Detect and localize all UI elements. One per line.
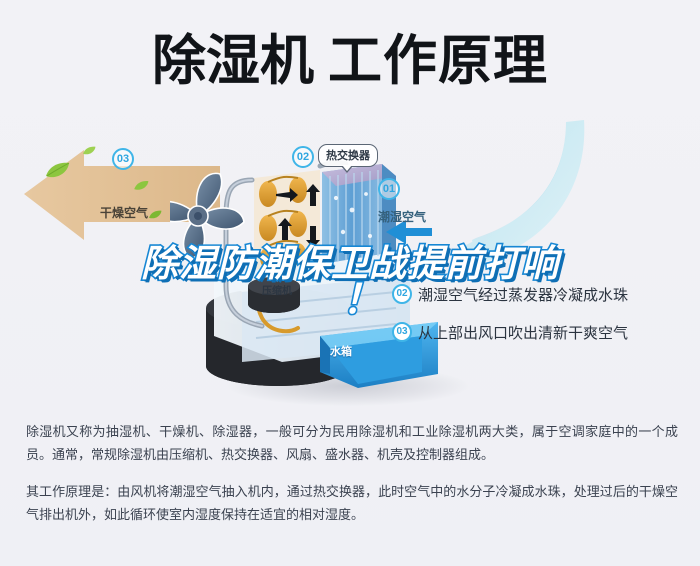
- step-text: 从上部出风口吹出清新干爽空气: [418, 322, 628, 343]
- page-title-part2: 工作原理: [328, 31, 548, 91]
- leaf-icon: [148, 210, 162, 220]
- steps-list: 01 潮湿空气由下部进风口吸入机内 02 潮湿空气经过蒸发器冷凝成水珠 03 从…: [392, 244, 692, 358]
- dry-air-label: 干燥空气: [100, 204, 148, 221]
- diagram-badge-01: 01: [378, 178, 400, 200]
- list-item: 02 潮湿空气经过蒸发器冷凝成水珠: [392, 282, 692, 306]
- page-root: 除湿机工作原理: [0, 0, 700, 566]
- diagram-badge-03: 03: [112, 148, 134, 170]
- step-badge: 03: [392, 322, 412, 342]
- list-item: 03 从上部出风口吹出清新干爽空气: [392, 320, 692, 344]
- compressor-label: 压缩机: [262, 282, 292, 297]
- page-title: 除湿机工作原理: [0, 30, 700, 92]
- leaf-icon: [133, 180, 149, 192]
- humid-air-label: 潮湿空气: [378, 208, 426, 225]
- page-title-part1: 除湿机: [152, 31, 314, 91]
- water-tank-label: 水箱: [330, 343, 352, 359]
- body-paragraph-2: 其工作原理是：由风机将潮湿空气抽入机内，通过热交换器，此时空气中的水分子冷凝成水…: [26, 480, 678, 526]
- step-text: 潮湿空气经过蒸发器冷凝成水珠: [418, 284, 628, 305]
- diagram-badge-02: 02: [292, 146, 314, 168]
- heat-exchanger-callout: 热交换器: [318, 144, 378, 167]
- leaf-icon: [82, 146, 96, 156]
- body-paragraph-1: 除湿机又称为抽湿机、干燥机、除湿器，一般可分为民用除湿机和工业除湿机两大类，属于…: [26, 420, 678, 466]
- step-badge: 02: [392, 284, 412, 304]
- page-title-text: 除湿机工作原理: [152, 30, 548, 92]
- article-body: 除湿机又称为抽湿机、干燥机、除湿器，一般可分为民用除湿机和工业除湿机两大类，属于…: [26, 420, 678, 526]
- leaf-icon: [44, 162, 70, 180]
